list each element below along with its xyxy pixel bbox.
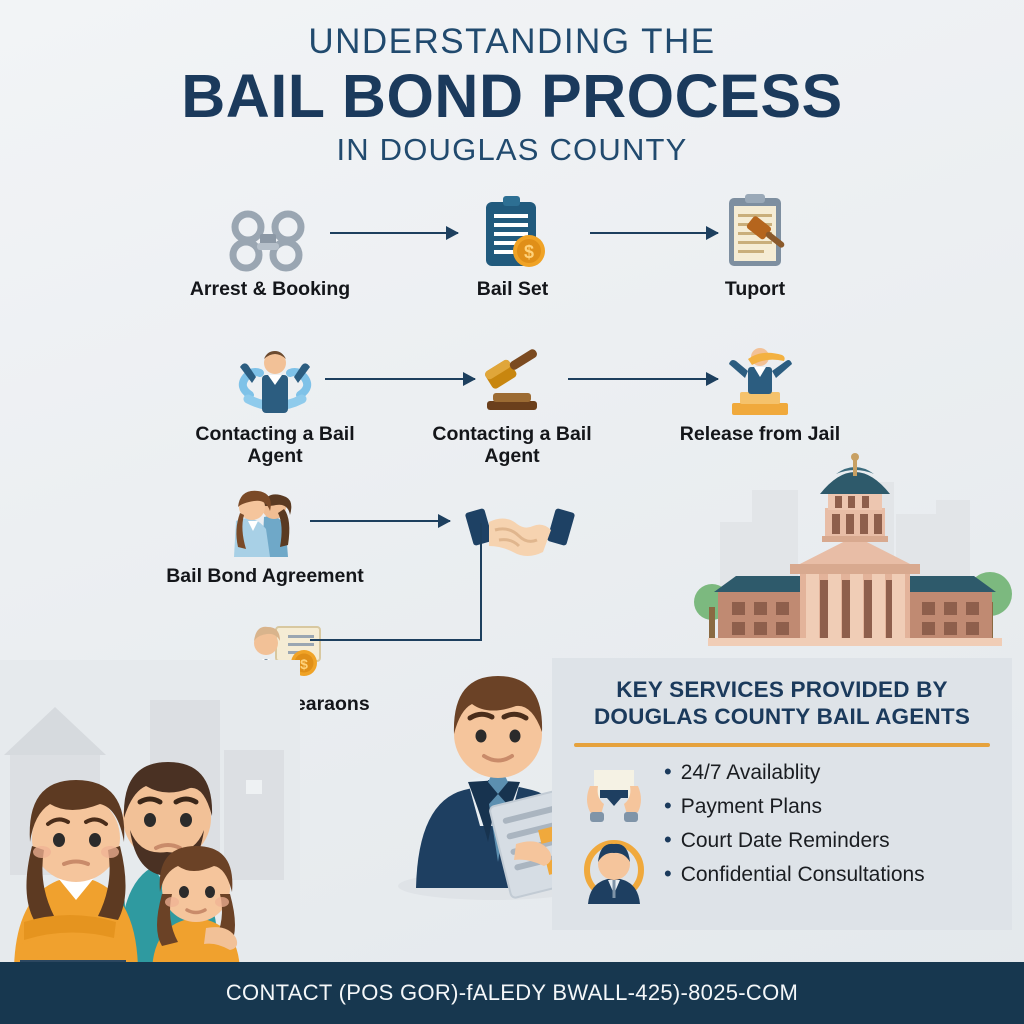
service-item: • Confidential Consultations bbox=[664, 863, 996, 885]
handcuffs-icon bbox=[175, 190, 365, 272]
flow-step-bail-bond-agreement: Bail Bond Agreement bbox=[135, 477, 395, 587]
flow-step-handshake bbox=[455, 480, 585, 562]
clipboard-dollar-icon: $ bbox=[440, 190, 585, 272]
service-item-label: Court Date Reminders bbox=[681, 830, 890, 851]
hands-envelope-icon bbox=[568, 761, 660, 835]
flow-step-label: Arrest & Booking bbox=[175, 278, 365, 300]
bullet-icon: • bbox=[664, 761, 672, 783]
key-services-panel: KEY SERVICES PROVIDED BY DOUGLAS COUNTY … bbox=[552, 658, 1012, 930]
svg-text:$: $ bbox=[300, 656, 308, 672]
services-title-line-2: DOUGLAS COUNTY BAIL AGENTS bbox=[568, 703, 996, 730]
flow-step-release-from-jail: Release from Jail bbox=[655, 335, 865, 445]
person-pedestal-icon bbox=[655, 335, 865, 417]
service-item-label: Confidential Consultations bbox=[681, 864, 925, 885]
flow-arrow-1 bbox=[330, 232, 458, 234]
bullet-icon: • bbox=[664, 863, 672, 885]
svg-text:$: $ bbox=[523, 242, 533, 262]
contact-footer-text: CONTACT (POS GOR)-fALEDY BWALL-425)-8025… bbox=[226, 980, 798, 1006]
title-line-3: IN DOUGLAS COUNTY bbox=[0, 132, 1024, 168]
flow-step-tuport: Tuport bbox=[680, 190, 830, 300]
bullet-icon: • bbox=[664, 795, 672, 817]
service-item: • Payment Plans bbox=[664, 795, 996, 817]
bullet-icon: • bbox=[664, 829, 672, 851]
infographic-poster: UNDERSTANDING THE BAIL BOND PROCESS IN D… bbox=[0, 0, 1024, 1024]
services-title-line-1: KEY SERVICES PROVIDED BY bbox=[568, 676, 996, 703]
page-title: UNDERSTANDING THE BAIL BOND PROCESS IN D… bbox=[0, 22, 1024, 168]
flow-step-arrest-booking: Arrest & Booking bbox=[175, 190, 365, 300]
flow-step-label: Contacting a Bail Agent bbox=[175, 423, 375, 468]
worried-family-illustration bbox=[0, 660, 300, 980]
title-line-2: BAIL BOND PROCESS bbox=[0, 64, 1024, 128]
flow-step-label: Release from Jail bbox=[655, 423, 865, 445]
service-item-label: 24/7 Availablity bbox=[681, 762, 821, 783]
handshake-icon bbox=[455, 480, 585, 562]
services-title: KEY SERVICES PROVIDED BY DOUGLAS COUNTY … bbox=[568, 676, 996, 731]
service-item-label: Payment Plans bbox=[681, 796, 822, 817]
document-gavel-icon bbox=[680, 190, 830, 272]
flow-step-contacting-agent-1: Contacting a Bail Agent bbox=[175, 335, 375, 468]
flow-elbow-horizontal bbox=[310, 639, 482, 641]
flow-step-contacting-agent-2: Contacting a Bail Agent bbox=[412, 335, 612, 468]
services-icon-column bbox=[568, 761, 660, 909]
two-people-icon bbox=[135, 477, 395, 559]
contact-footer-bar: CONTACT (POS GOR)-fALEDY BWALL-425)-8025… bbox=[0, 962, 1024, 1024]
flow-step-label: Contacting a Bail Agent bbox=[412, 423, 612, 468]
flow-step-label: Bail Set bbox=[440, 278, 585, 300]
flow-step-label: Bail Bond Agreement bbox=[135, 565, 395, 587]
flow-step-label: Tuport bbox=[680, 278, 830, 300]
flow-arrow-5 bbox=[310, 520, 450, 522]
services-list: • 24/7 Availablity • Payment Plans • Cou… bbox=[660, 761, 996, 909]
title-line-1: UNDERSTANDING THE bbox=[0, 22, 1024, 62]
service-item: • 24/7 Availablity bbox=[664, 761, 996, 783]
agent-ring-icon bbox=[568, 835, 660, 909]
services-divider bbox=[574, 743, 990, 747]
gavel-icon bbox=[412, 335, 612, 417]
flow-elbow-vertical bbox=[480, 523, 482, 641]
courthouse-illustration bbox=[690, 452, 1020, 662]
person-raised-arms-icon bbox=[175, 335, 375, 417]
flow-step-bail-set: $ Bail Set bbox=[440, 190, 585, 300]
service-item: • Court Date Reminders bbox=[664, 829, 996, 851]
